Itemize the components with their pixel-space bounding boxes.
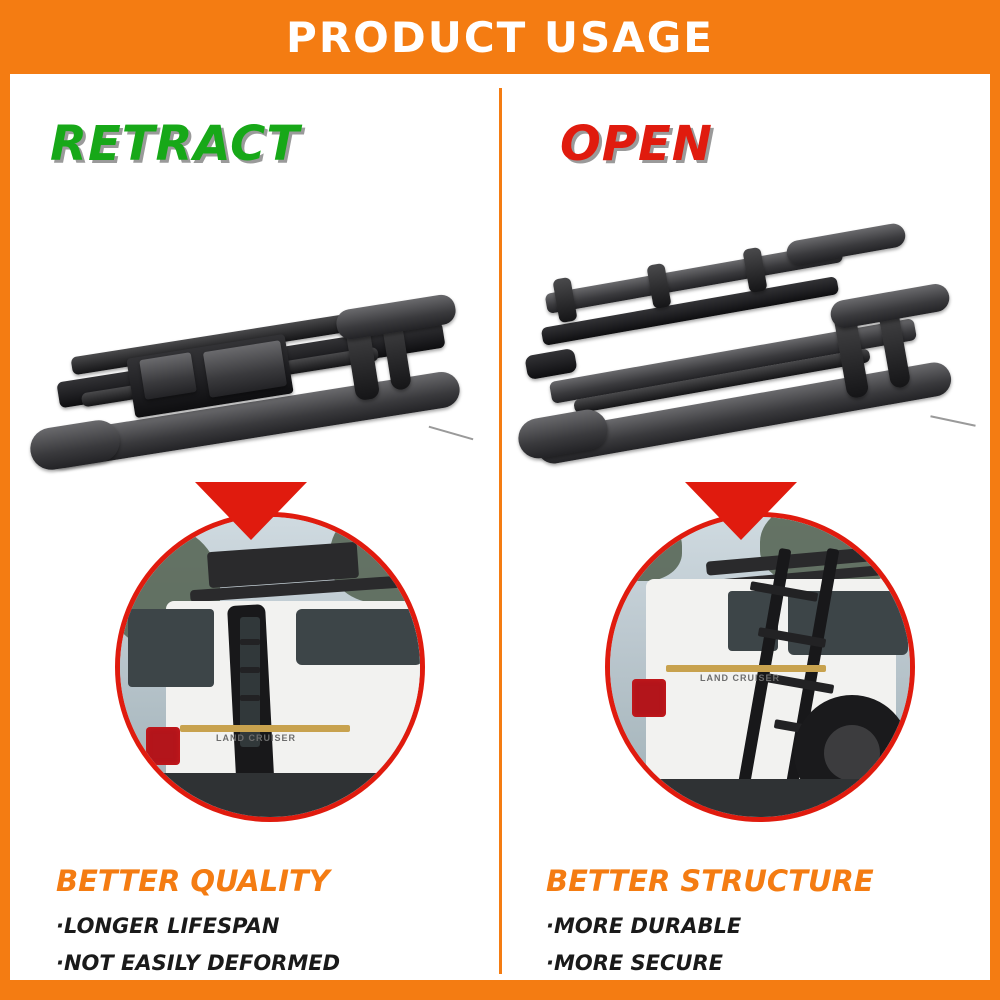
caption-bullet: ·NOT EASILY DEFORMED [56, 951, 486, 975]
spare-tire-hub [824, 725, 880, 781]
caption-title-retract: BETTER QUALITY [56, 864, 486, 898]
panel-retract: RETRACT [10, 74, 500, 980]
caption-retract: BETTER QUALITY ·LONGER LIFESPAN ·NOT EAS… [56, 864, 486, 988]
ladder-step [240, 667, 260, 673]
caption-bullet: ·LONGER LIFESPAN [56, 914, 486, 938]
caption-bullet: ·MORE SECURE [546, 951, 976, 975]
ladder-step [240, 639, 260, 645]
product-image-open [500, 224, 990, 514]
taillight [632, 679, 666, 717]
panel-title-retract: RETRACT [50, 116, 300, 172]
inset-photo-open: LAND CRUISER [605, 512, 915, 822]
rear-bumper [610, 779, 910, 822]
caption-bullet: ·MORE DURABLE [546, 914, 976, 938]
rear-bumper [120, 773, 420, 821]
panel-divider [499, 88, 502, 974]
caption-title-open: BETTER STRUCTURE [546, 864, 976, 898]
product-image-retract [10, 224, 500, 514]
page-title: PRODUCT USAGE [286, 13, 714, 62]
tree-icon [605, 512, 682, 581]
inset-photo-retract: LAND CRUISER [115, 512, 425, 822]
inset-pointer-icon [685, 482, 797, 540]
side-window [788, 591, 908, 655]
gold-stripe [180, 725, 350, 732]
page-header-banner: PRODUCT USAGE [0, 0, 1000, 74]
taillight [146, 727, 180, 765]
vehicle-badge: LAND CRUISER [700, 673, 780, 683]
panel-title-open: OPEN [560, 116, 713, 172]
inset-wrap-retract: LAND CRUISER [10, 484, 500, 844]
panel-open: OPEN [500, 74, 990, 980]
product-usage-page: PRODUCT USAGE RETRACT [0, 0, 1000, 1000]
caption-open: BETTER STRUCTURE ·MORE DURABLE ·MORE SEC… [546, 864, 976, 988]
vehicle-badge: LAND CRUISER [216, 733, 296, 743]
gold-stripe [666, 665, 826, 672]
page-footer-bar [0, 980, 1000, 1000]
inset-wrap-open: LAND CRUISER [500, 484, 990, 844]
side-window [296, 609, 422, 665]
ladder-step [240, 695, 260, 701]
inset-pointer-icon [195, 482, 307, 540]
rear-window [128, 609, 214, 687]
